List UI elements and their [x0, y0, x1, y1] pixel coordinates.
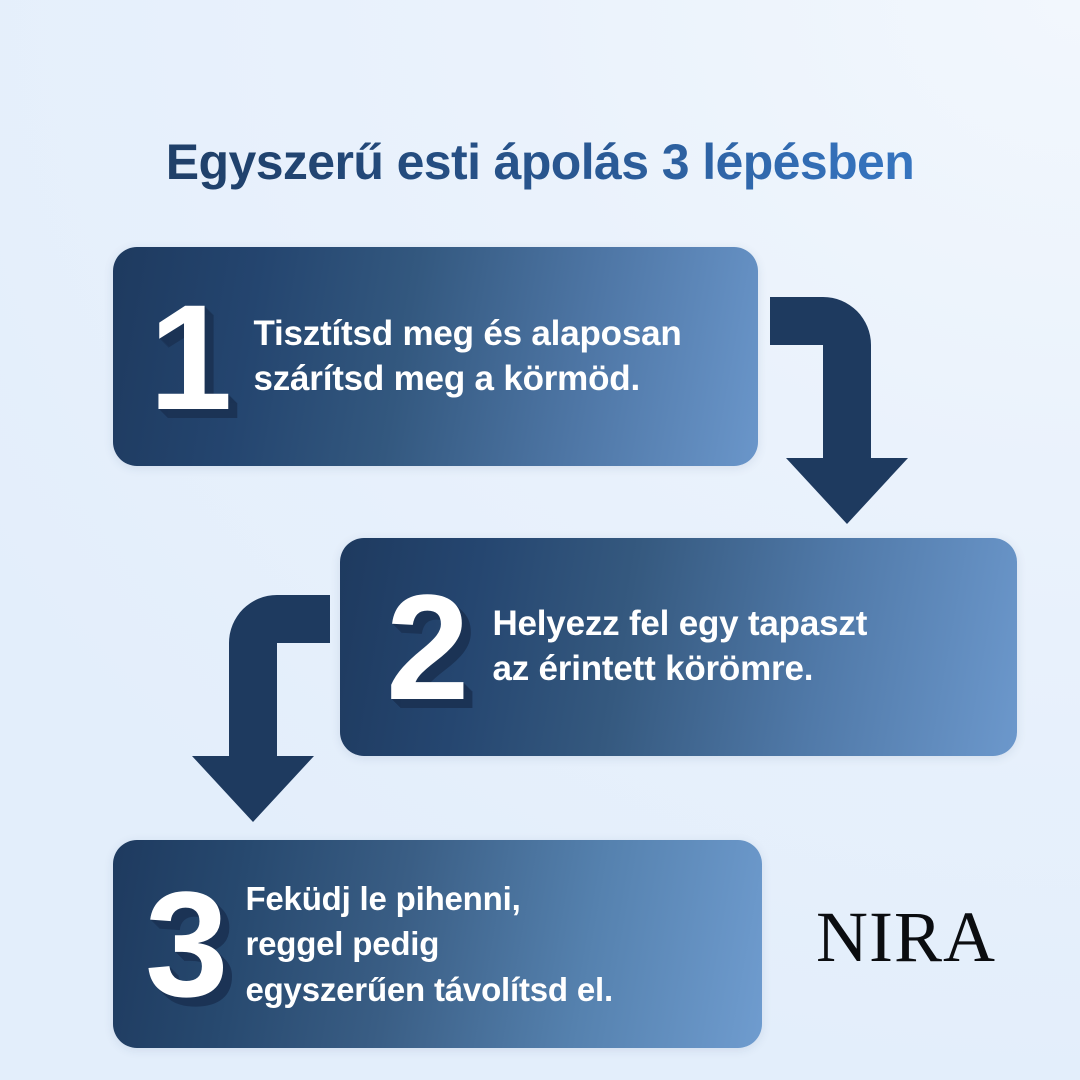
step-card-2: 2 Helyezz fel egy tapaszt az érintett kö… [340, 538, 1017, 756]
step-card-1: 1 Tisztítsd meg és alaposan szárítsd meg… [113, 247, 758, 466]
arrow-step2-to-step3-icon [175, 588, 340, 833]
arrow-step1-to-step2-icon [760, 290, 920, 535]
brand-logo-nira: NIRA [816, 901, 996, 973]
step-text-1: Tisztítsd meg és alaposan szárítsd meg a… [253, 312, 732, 402]
step-number-1: 1 [149, 282, 229, 432]
step-text-2: Helyezz fel egy tapaszt az érintett körö… [492, 602, 991, 692]
infographic-canvas: Egyszerű esti ápolás 3 lépésben 1 Tisztí… [0, 0, 1080, 1080]
page-title: Egyszerű esti ápolás 3 lépésben [0, 135, 1080, 190]
step-text-3: Feküdj le pihenni, reggel pedig egyszerű… [245, 876, 742, 1013]
step-card-3: 3 Feküdj le pihenni, reggel pedig egysze… [113, 840, 762, 1048]
step-number-2: 2 [386, 572, 466, 722]
step-number-3: 3 [145, 869, 225, 1019]
